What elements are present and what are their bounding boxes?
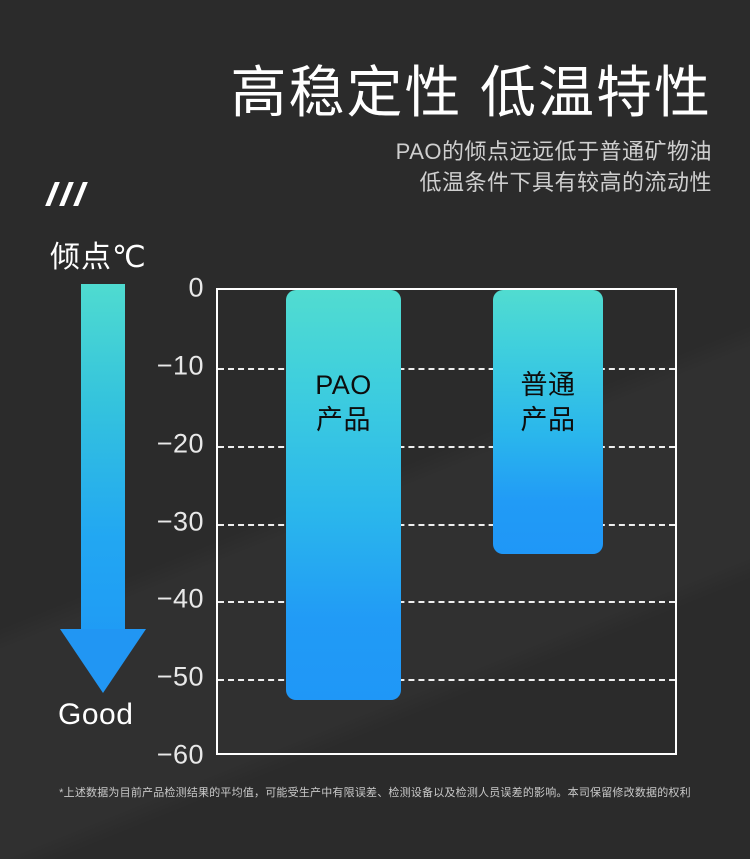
y-tick-20: −20 <box>124 428 204 459</box>
slash-mark-3 <box>73 182 88 206</box>
y-tick-10: −10 <box>124 350 204 381</box>
header-block: 高稳定性 低温特性 PAO的倾点远远低于普通矿物油 低温条件下具有较高的流动性 <box>230 60 712 199</box>
chart-plot-area: PAO 产品 普通 产品 <box>216 288 677 755</box>
bar-pao[interactable]: PAO 产品 <box>286 290 401 700</box>
subtitle-line-2: 低温条件下具有较高的流动性 <box>230 167 712 198</box>
y-tick-60: −60 <box>124 740 204 771</box>
slash-mark-2 <box>59 182 74 206</box>
y-tick-50: −50 <box>124 662 204 693</box>
slash-mark-1 <box>45 182 60 206</box>
bar-ordinary[interactable]: 普通 产品 <box>493 290 603 554</box>
y-tick-0: 0 <box>124 273 204 304</box>
y-axis-ticks: 0 −10 −20 −30 −40 −50 −60 <box>124 288 204 755</box>
triple-slash-icon <box>50 182 110 208</box>
footnote-text: *上述数据为目前产品检测结果的平均值，可能受生产中有限误差、检测设备以及检测人员… <box>0 784 750 800</box>
y-tick-30: −30 <box>124 506 204 537</box>
arrow-shaft <box>81 284 125 636</box>
y-axis-label: 倾点℃ <box>50 232 147 276</box>
subtitle-line-1: PAO的倾点远远低于普通矿物油 <box>230 136 712 167</box>
bar-label-ordinary: 普通 产品 <box>521 368 576 437</box>
y-tick-40: −40 <box>124 584 204 615</box>
page-root: 高稳定性 低温特性 PAO的倾点远远低于普通矿物油 低温条件下具有较高的流动性 … <box>0 0 750 859</box>
page-title: 高稳定性 低温特性 <box>230 60 712 126</box>
good-label: Good <box>58 698 133 732</box>
subtitle-block: PAO的倾点远远低于普通矿物油 低温条件下具有较高的流动性 <box>230 136 712 198</box>
bar-label-pao: PAO 产品 <box>315 368 372 437</box>
